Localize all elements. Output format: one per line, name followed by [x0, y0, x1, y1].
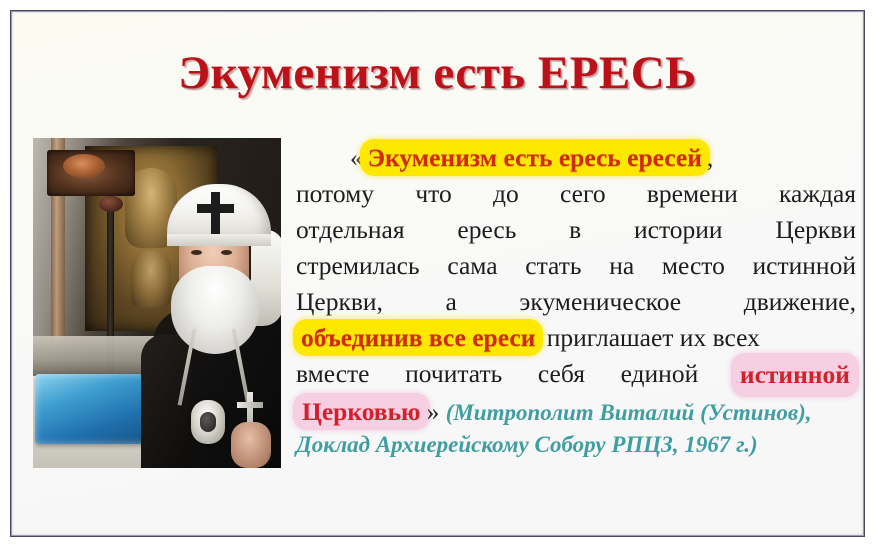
bishop-hand [231, 422, 271, 468]
panagia-stone [200, 412, 216, 432]
word: времени [647, 176, 738, 212]
mitre-cross-icon [211, 192, 220, 234]
attribution-line-1: (Митрополит Виталий (Устинов), [446, 400, 812, 425]
quote-line-7: вместе почитать себя единой истинной [296, 356, 856, 394]
word: Церкви, [296, 284, 383, 320]
portrait-photo-content [33, 138, 281, 468]
word: на [609, 248, 634, 284]
mitre-band [167, 234, 271, 246]
word: стать [525, 248, 581, 284]
word: место [662, 248, 725, 284]
quote-line-8: Церковью» (Митрополит Виталий (Устинов), [296, 394, 856, 431]
portrait-photo [33, 138, 281, 468]
attribution-line-2: Доклад Архиерейскому Собору РПЦЗ, 1967 г… [296, 432, 856, 458]
word: себя [538, 356, 585, 394]
gospel-box-emblem [63, 154, 105, 178]
word: движение, [744, 284, 856, 320]
highlight-obedieniv-vse-eresi: объединив все ереси [296, 322, 540, 353]
slide-root: Экуменизм есть ЕРЕСЬ [0, 0, 875, 547]
word: стремилась [296, 248, 420, 284]
text-after-highlight-2: приглашает их всех [547, 323, 760, 352]
word: экуменическое [519, 284, 681, 320]
word: каждая [779, 176, 856, 212]
word: сего [560, 176, 606, 212]
bishop-eye-right [221, 250, 232, 255]
word: в [569, 212, 581, 248]
comma-after-highlight-1: , [707, 143, 713, 172]
quote-line-1: «Экуменизм есть ересь ересей, [296, 140, 856, 176]
mitre-cross-icon-bar [197, 204, 234, 213]
bishop-eye-left [191, 250, 202, 255]
word: отдельная [296, 212, 405, 248]
word: до [493, 176, 519, 212]
word: почитать [405, 356, 502, 394]
blue-gospel-box [35, 374, 155, 444]
highlight-tserkovyu: Церковью [296, 396, 427, 427]
word: потому [296, 176, 374, 212]
highlight-istinnoy: истинной [734, 356, 856, 394]
word: а [446, 284, 457, 320]
quote-line-2: потому что до сего времени каждая [296, 176, 856, 212]
open-quote-mark: « [350, 143, 363, 172]
highlight-eresy-eresey: Экуменизм есть ересь ересей [363, 142, 707, 173]
icon-figure-lower [131, 250, 171, 308]
word: единой [621, 356, 699, 394]
word: истинной [753, 248, 856, 284]
blessing-cross-icon-bar [237, 402, 263, 408]
close-quote-mark: » [427, 397, 440, 426]
word: что [415, 176, 451, 212]
word: Церкви [775, 212, 856, 248]
quote-text-block: «Экуменизм есть ересь ересей, потому что… [296, 140, 856, 431]
quote-line-3: отдельная ересь в истории Церкви [296, 212, 856, 248]
page-title: Экуменизм есть ЕРЕСЬ [0, 46, 875, 100]
quote-line-4: стремилась сама стать на место истинной [296, 248, 856, 284]
word: сама [447, 248, 497, 284]
word: ересь [457, 212, 516, 248]
word: вместе [296, 356, 369, 394]
quote-line-5: Церкви, а экуменическое движение, [296, 284, 856, 320]
quote-line-6: объединив все ереси приглашает их всех [296, 320, 856, 356]
word: истории [634, 212, 723, 248]
bishop-beard [171, 266, 259, 354]
bishop-shoulder [141, 334, 191, 468]
candle-knob [99, 196, 123, 212]
